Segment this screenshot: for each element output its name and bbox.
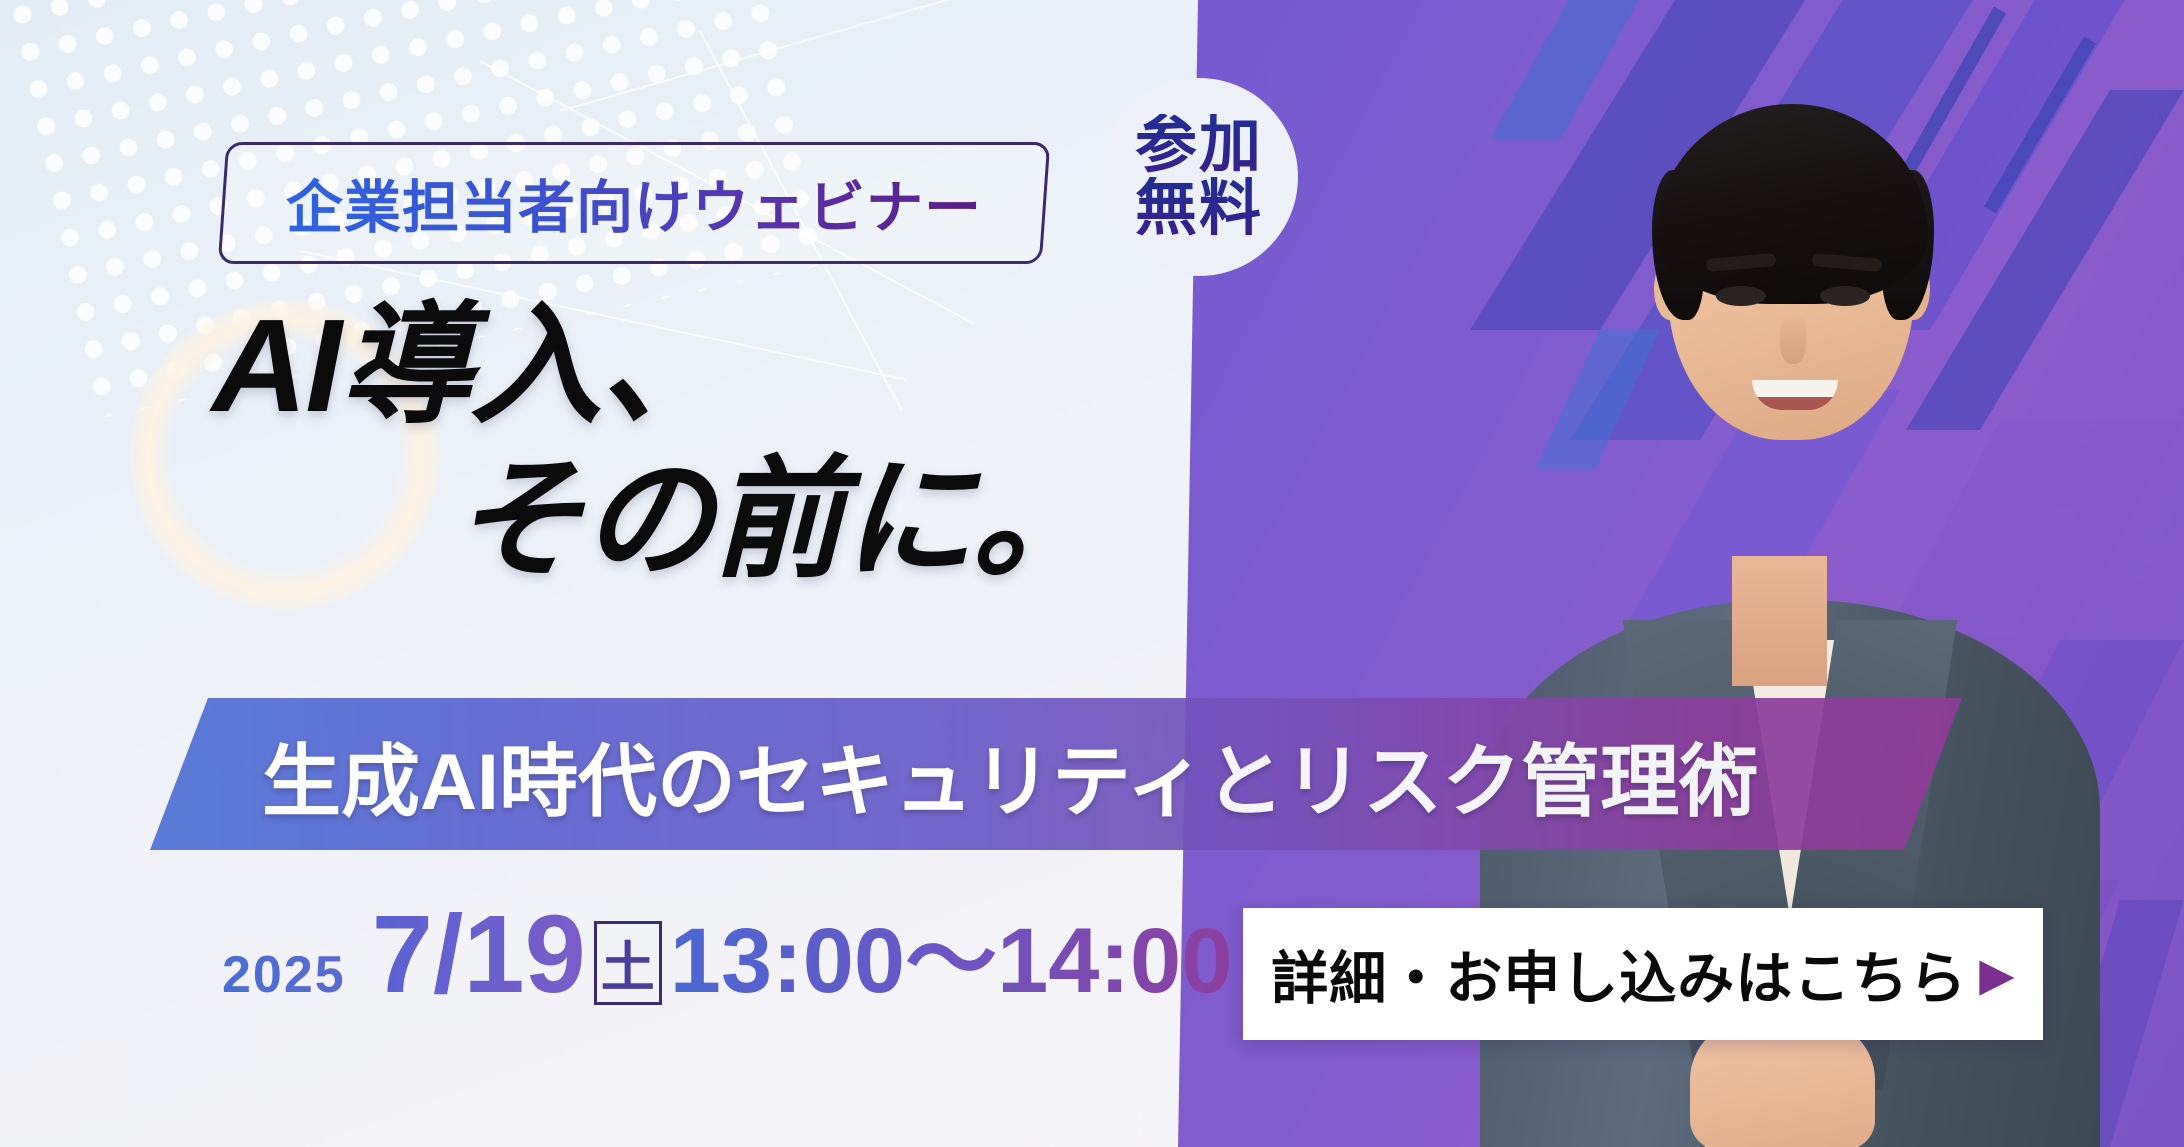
arrow-right-icon: ▶ [1979, 951, 2014, 997]
teeth [1752, 380, 1838, 397]
neck [1732, 556, 1827, 686]
eye-left [1716, 286, 1766, 306]
schedule-date: 7/19 [372, 900, 586, 1010]
subtitle-text: 生成AI時代のセキュリティとリスク管理術 [262, 717, 1758, 832]
audience-tag: 企業担当者向けウェビナー [218, 142, 1051, 264]
free-participation-badge: 参加 無料 [1100, 78, 1298, 276]
apply-cta-button[interactable]: 詳細・お申し込みはこちら ▶ [1243, 908, 2043, 1040]
schedule-row: 2025 7/19 土 13:00〜14:00 [222, 900, 1232, 1011]
eye-right [1820, 286, 1870, 306]
headline-line-1: AI導入、 [212, 300, 1160, 432]
free-badge-line1: 参加 [1135, 114, 1263, 177]
free-badge-line2: 無料 [1135, 177, 1263, 240]
headline: AI導入、 その前に。 [0, 300, 1160, 586]
subtitle-bar: 生成AI時代のセキュリティとリスク管理術 [150, 698, 1962, 850]
audience-tag-label: 企業担当者向けウェビナー [286, 162, 982, 244]
headline-line-2: その前に。 [452, 454, 1160, 586]
apply-cta-label: 詳細・お申し込みはこちら [1271, 933, 1967, 1015]
schedule-year: 2025 [222, 945, 346, 1005]
schedule-time: 13:00〜14:00 [670, 915, 1233, 1007]
nose [1780, 312, 1806, 364]
webinar-banner: 企業担当者向けウェビナー 参加 無料 AI導入、 その前に。 生成AI時代のセキ… [0, 0, 2184, 1147]
schedule-day-of-week: 土 [594, 921, 662, 1005]
hair [1656, 104, 1928, 304]
